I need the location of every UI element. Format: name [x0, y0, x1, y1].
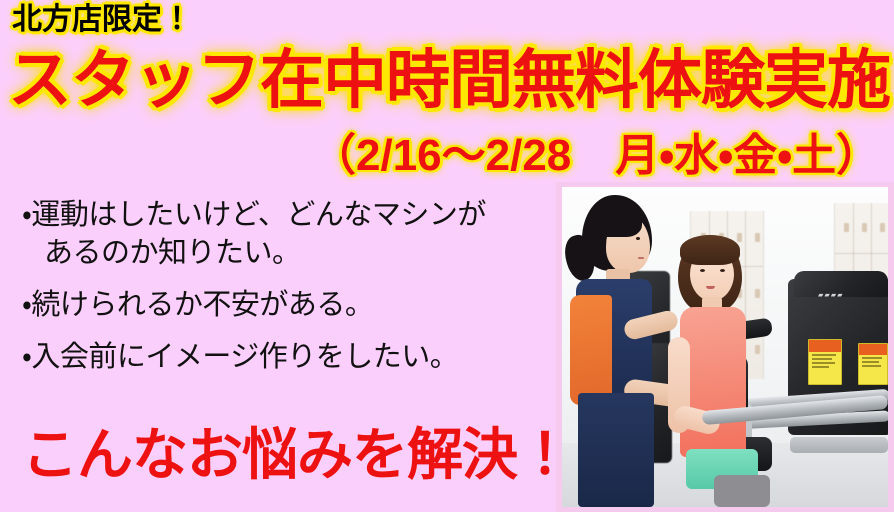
staff-uniform-orange — [570, 295, 612, 405]
staff-mouth — [638, 257, 644, 259]
promotional-poster: 北方店限定！ スタッフ在中時間無料体験実施！ （2/16〜2/28 月・水・金・… — [0, 0, 894, 512]
warning-label-2 — [858, 343, 888, 385]
eyebrow-text: 北方店限定！ — [12, 2, 192, 38]
warning-label-1 — [808, 339, 842, 385]
list-item-line-1: ・続けられるか不安がある。 — [22, 286, 552, 324]
machine-frame-base — [790, 437, 888, 453]
machine-logo: ▰▰▰▰ — [818, 291, 844, 299]
schedule-text: （2/16〜2/28 月・水・金・土） — [312, 130, 880, 182]
list-item-line-1: ・運動はしたいけど、どんなマシンが — [22, 196, 552, 234]
list-item-line-2: あるのか知りたい。 — [22, 234, 552, 272]
photo-frame: ▰▰▰▰ — [556, 182, 894, 512]
page-title: スタッフ在中時間無料体験実施！ — [8, 46, 894, 114]
gym-photo: ▰▰▰▰ — [562, 187, 888, 507]
list-item-line-1: ・入会前にイメージ作りをしたい。 — [22, 338, 552, 376]
pain-point-list: ・運動はしたいけど、どんなマシンが あるのか知りたい。 ・続けられるか不安がある… — [22, 196, 552, 390]
staff-pants — [578, 393, 654, 507]
list-item: ・運動はしたいけど、どんなマシンが あるのか知りたい。 — [22, 196, 552, 272]
staff-hair-front — [590, 197, 642, 237]
customer-eye-left — [700, 269, 705, 272]
list-item: ・入会前にイメージ作りをしたい。 — [22, 338, 552, 376]
callout-text: こんなお悩みを解決！ — [22, 423, 572, 487]
customer-eye-right — [720, 269, 725, 272]
customer-bangs — [680, 235, 740, 265]
staff-eye — [636, 237, 640, 240]
customer-leg — [714, 475, 770, 507]
list-item: ・続けられるか不安がある。 — [22, 286, 552, 324]
